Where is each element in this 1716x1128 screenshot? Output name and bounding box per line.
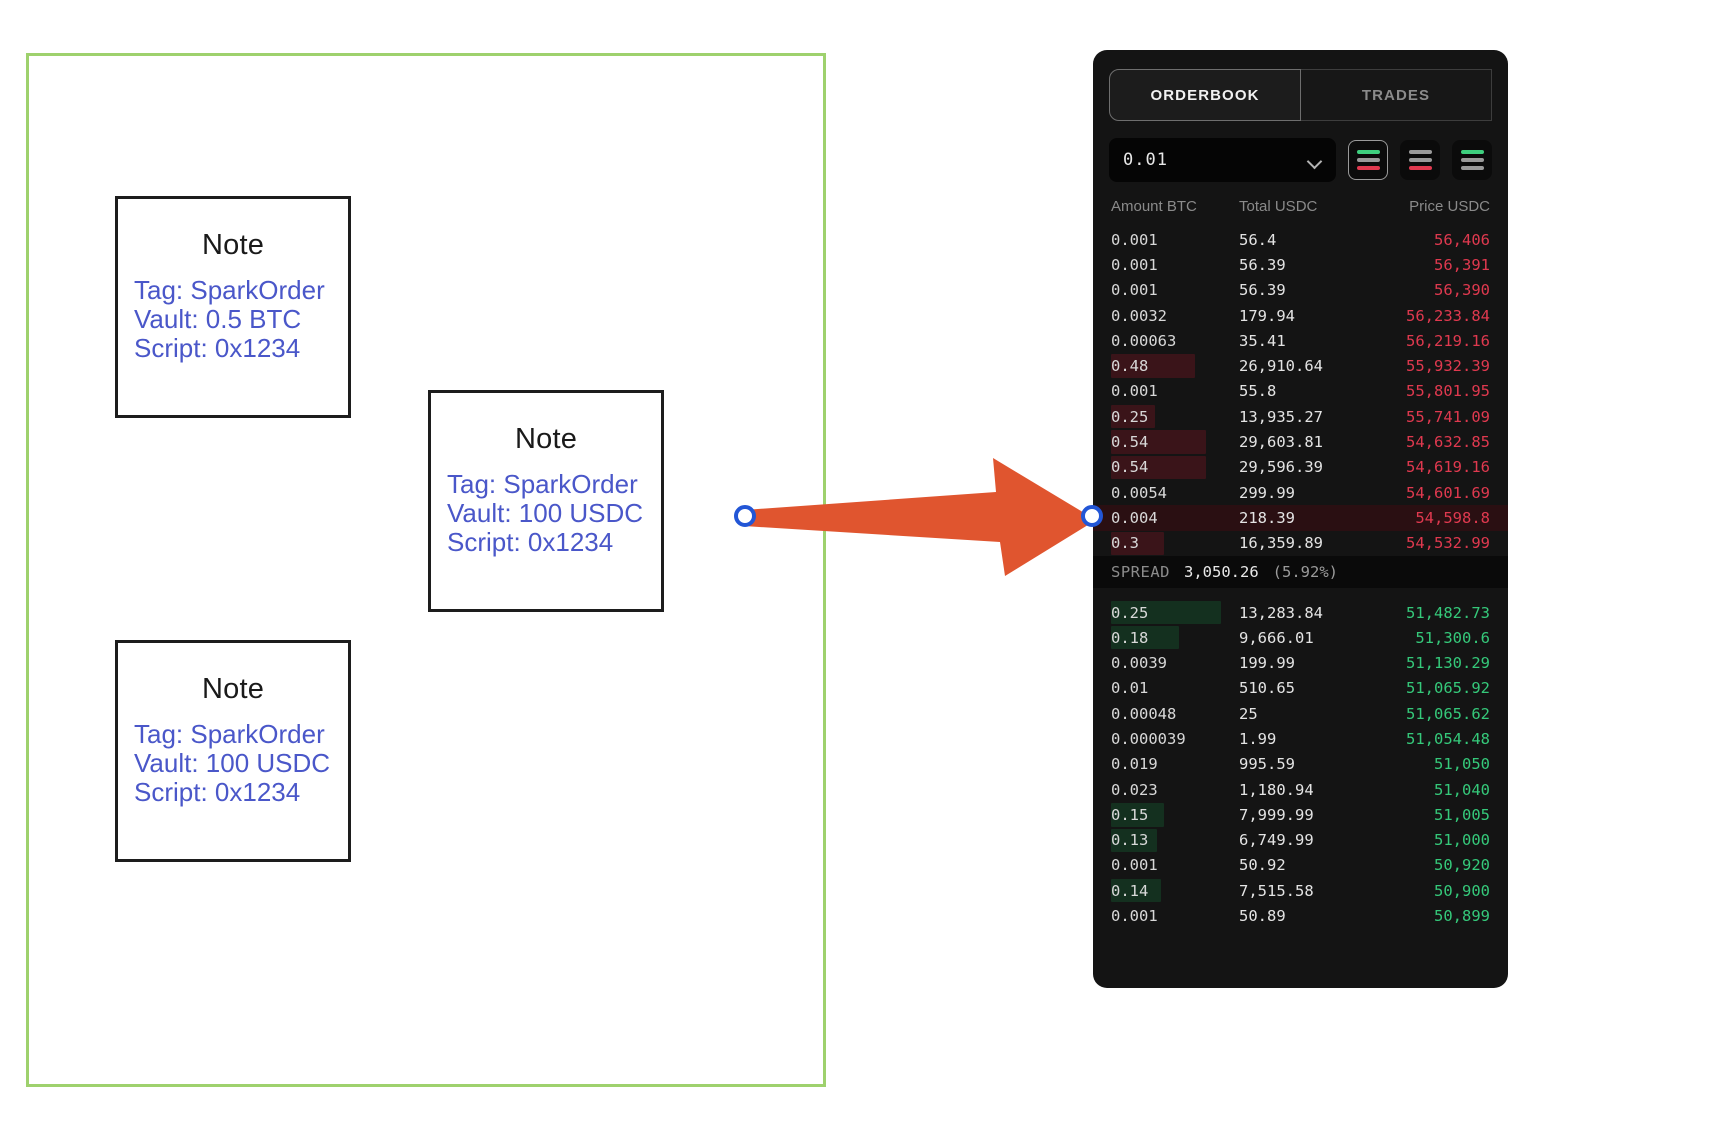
note-card[interactable]: Note Tag: SparkOrder Vault: 100 USDC Scr… — [428, 390, 664, 612]
cell-total: 7,515.58 — [1239, 882, 1370, 900]
diagram-canvas[interactable]: Note Tag: SparkOrder Vault: 0.5 BTC Scri… — [26, 53, 826, 1087]
note-title: Note — [202, 673, 264, 706]
view-bids-only-button[interactable] — [1452, 140, 1492, 180]
column-header-total: Total USDC — [1239, 198, 1409, 215]
cell-amount: 0.004 — [1111, 509, 1239, 527]
orderbook-row-ask[interactable]: 0.00156.456,406 — [1093, 227, 1508, 252]
orderbook-row-ask[interactable]: 0.004218.3954,598.8 — [1093, 505, 1508, 530]
cell-amount: 0.000039 — [1111, 730, 1239, 748]
cell-total: 6,749.99 — [1239, 831, 1370, 849]
note-vault-line: Vault: 0.5 BTC — [134, 305, 348, 334]
cell-price: 51,130.29 — [1370, 654, 1490, 672]
cell-total: 7,999.99 — [1239, 806, 1370, 824]
cell-total: 995.59 — [1239, 755, 1370, 773]
cell-price: 54,632.85 — [1370, 433, 1490, 451]
cell-price: 51,050 — [1370, 755, 1490, 773]
cell-amount: 0.25 — [1111, 604, 1239, 622]
orderbook-row-bid[interactable]: 0.2513,283.8451,482.73 — [1093, 600, 1508, 625]
tick-size-value: 0.01 — [1123, 150, 1168, 170]
orderbook-controls: 0.01 — [1109, 138, 1492, 182]
cell-total: 510.65 — [1239, 679, 1370, 697]
orderbook-row-bid[interactable]: 0.0039199.9951,130.29 — [1093, 650, 1508, 675]
orderbook-row-ask[interactable]: 0.00156.3956,390 — [1093, 278, 1508, 303]
spread-label: SPREAD — [1111, 563, 1170, 581]
orderbook-row-ask[interactable]: 0.0032179.9456,233.84 — [1093, 303, 1508, 328]
cell-total: 299.99 — [1239, 484, 1370, 502]
note-title: Note — [515, 423, 577, 456]
cell-price: 50,900 — [1370, 882, 1490, 900]
orderbook-row-bid[interactable]: 0.0000391.9951,054.48 — [1093, 726, 1508, 751]
cell-amount: 0.001 — [1111, 256, 1239, 274]
orderbook-row-ask[interactable]: 0.0006335.4156,219.16 — [1093, 328, 1508, 353]
column-header-price: Price USDC — [1409, 198, 1490, 215]
cell-amount: 0.3 — [1111, 534, 1239, 552]
cell-price: 51,065.92 — [1370, 679, 1490, 697]
orderbook-row-ask[interactable]: 0.0054299.9954,601.69 — [1093, 480, 1508, 505]
note-card[interactable]: Note Tag: SparkOrder Vault: 100 USDC Scr… — [115, 640, 351, 862]
cell-price: 51,300.6 — [1370, 629, 1490, 647]
cell-price: 51,054.48 — [1370, 730, 1490, 748]
cell-total: 26,910.64 — [1239, 357, 1370, 375]
spread-value: 3,050.26 — [1184, 563, 1259, 581]
orderbook-row-ask[interactable]: 0.5429,603.8154,632.85 — [1093, 429, 1508, 454]
orderbook-row-bid[interactable]: 0.000482551,065.62 — [1093, 701, 1508, 726]
connection-handle-source[interactable] — [734, 505, 756, 527]
orderbook-row-bid[interactable]: 0.147,515.5850,900 — [1093, 878, 1508, 903]
cell-amount: 0.023 — [1111, 781, 1239, 799]
ask-rows: 0.00156.456,4060.00156.3956,3910.00156.3… — [1093, 227, 1508, 556]
cell-total: 55.8 — [1239, 382, 1370, 400]
cell-price: 51,000 — [1370, 831, 1490, 849]
cell-total: 1.99 — [1239, 730, 1370, 748]
cell-price: 56,391 — [1370, 256, 1490, 274]
cell-total: 50.89 — [1239, 907, 1370, 925]
cell-amount: 0.0039 — [1111, 654, 1239, 672]
cell-total: 16,359.89 — [1239, 534, 1370, 552]
cell-amount: 0.001 — [1111, 856, 1239, 874]
bid-rows: 0.2513,283.8451,482.730.189,666.0151,300… — [1093, 600, 1508, 929]
cell-price: 54,532.99 — [1370, 534, 1490, 552]
cell-amount: 0.18 — [1111, 629, 1239, 647]
cell-amount: 0.019 — [1111, 755, 1239, 773]
spread-row: SPREAD 3,050.26 (5.92%) — [1093, 556, 1508, 588]
note-script-line: Script: 0x1234 — [134, 778, 348, 807]
cell-price: 55,932.39 — [1370, 357, 1490, 375]
orderbook-row-bid[interactable]: 0.136,749.9951,000 — [1093, 828, 1508, 853]
cell-total: 179.94 — [1239, 307, 1370, 325]
cell-price: 51,005 — [1370, 806, 1490, 824]
tick-size-select[interactable]: 0.01 — [1109, 138, 1336, 182]
cell-price: 50,920 — [1370, 856, 1490, 874]
note-fields: Tag: SparkOrder Vault: 100 USDC Script: … — [431, 470, 661, 557]
cell-total: 218.39 — [1239, 509, 1370, 527]
orderbook-column-headers: Amount BTC Total USDC Price USDC — [1111, 198, 1490, 215]
cell-total: 13,283.84 — [1239, 604, 1370, 622]
orderbook-row-bid[interactable]: 0.0231,180.9451,040 — [1093, 777, 1508, 802]
cell-price: 51,040 — [1370, 781, 1490, 799]
orderbook-panel: ORDERBOOK TRADES 0.01 Amount BTC Total U… — [1093, 50, 1508, 988]
cell-amount: 0.001 — [1111, 907, 1239, 925]
orderbook-row-ask[interactable]: 0.00155.855,801.95 — [1093, 379, 1508, 404]
cell-amount: 0.01 — [1111, 679, 1239, 697]
cell-total: 56.4 — [1239, 231, 1370, 249]
cell-total: 1,180.94 — [1239, 781, 1370, 799]
orderbook-row-bid[interactable]: 0.00150.8950,899 — [1093, 903, 1508, 928]
cell-total: 56.39 — [1239, 256, 1370, 274]
note-tag-line: Tag: SparkOrder — [447, 470, 661, 499]
cell-amount: 0.001 — [1111, 231, 1239, 249]
cell-amount: 0.00048 — [1111, 705, 1239, 723]
flow-arrow-icon — [744, 452, 1096, 580]
cell-total: 50.92 — [1239, 856, 1370, 874]
orderbook-row-ask[interactable]: 0.316,359.8954,532.99 — [1093, 531, 1508, 556]
note-script-line: Script: 0x1234 — [134, 334, 348, 363]
cell-amount: 0.00063 — [1111, 332, 1239, 350]
tab-trades[interactable]: TRADES — [1301, 69, 1492, 121]
view-both-sides-button[interactable] — [1348, 140, 1388, 180]
cell-price: 56,390 — [1370, 281, 1490, 299]
cell-price: 54,598.8 — [1370, 509, 1490, 527]
cell-amount: 0.0054 — [1111, 484, 1239, 502]
note-vault-line: Vault: 100 USDC — [134, 749, 348, 778]
cell-total: 29,596.39 — [1239, 458, 1370, 476]
note-vault-line: Vault: 100 USDC — [447, 499, 661, 528]
cell-amount: 0.54 — [1111, 458, 1239, 476]
note-tag-line: Tag: SparkOrder — [134, 276, 348, 305]
cell-amount: 0.001 — [1111, 382, 1239, 400]
tab-orderbook[interactable]: ORDERBOOK — [1109, 69, 1301, 121]
cell-total: 199.99 — [1239, 654, 1370, 672]
cell-amount: 0.48 — [1111, 357, 1239, 375]
cell-price: 54,601.69 — [1370, 484, 1490, 502]
view-asks-only-button[interactable] — [1400, 140, 1440, 180]
cell-amount: 0.25 — [1111, 408, 1239, 426]
note-script-line: Script: 0x1234 — [447, 528, 661, 557]
cell-amount: 0.001 — [1111, 281, 1239, 299]
cell-amount: 0.54 — [1111, 433, 1239, 451]
spread-percent: (5.92%) — [1273, 563, 1338, 581]
cell-price: 51,482.73 — [1370, 604, 1490, 622]
cell-price: 54,619.16 — [1370, 458, 1490, 476]
cell-price: 55,801.95 — [1370, 382, 1490, 400]
cell-total: 13,935.27 — [1239, 408, 1370, 426]
orderbook-row-bid[interactable]: 0.019995.5951,050 — [1093, 752, 1508, 777]
note-fields: Tag: SparkOrder Vault: 100 USDC Script: … — [118, 720, 348, 807]
cell-total: 56.39 — [1239, 281, 1370, 299]
cell-price: 50,899 — [1370, 907, 1490, 925]
orderbook-row-ask[interactable]: 0.5429,596.3954,619.16 — [1093, 455, 1508, 480]
cell-price: 56,233.84 — [1370, 307, 1490, 325]
note-card[interactable]: Note Tag: SparkOrder Vault: 0.5 BTC Scri… — [115, 196, 351, 418]
cell-price: 56,406 — [1370, 231, 1490, 249]
cell-total: 9,666.01 — [1239, 629, 1370, 647]
orderbook-row-ask[interactable]: 0.00156.3956,391 — [1093, 252, 1508, 277]
cell-price: 55,741.09 — [1370, 408, 1490, 426]
column-header-amount: Amount BTC — [1111, 198, 1239, 215]
cell-total: 35.41 — [1239, 332, 1370, 350]
cell-amount: 0.15 — [1111, 806, 1239, 824]
orderbook-tabs: ORDERBOOK TRADES — [1109, 69, 1492, 121]
note-tag-line: Tag: SparkOrder — [134, 720, 348, 749]
cell-amount: 0.13 — [1111, 831, 1239, 849]
orderbook-row-ask[interactable]: 0.4826,910.6455,932.39 — [1093, 353, 1508, 378]
orderbook-row-bid[interactable]: 0.01510.6551,065.92 — [1093, 676, 1508, 701]
cell-price: 56,219.16 — [1370, 332, 1490, 350]
orderbook-row-bid[interactable]: 0.00150.9250,920 — [1093, 853, 1508, 878]
orderbook-row-bid[interactable]: 0.157,999.9951,005 — [1093, 802, 1508, 827]
note-title: Note — [202, 229, 264, 262]
cell-total: 29,603.81 — [1239, 433, 1370, 451]
cell-amount: 0.14 — [1111, 882, 1239, 900]
cell-amount: 0.0032 — [1111, 307, 1239, 325]
cell-price: 51,065.62 — [1370, 705, 1490, 723]
note-fields: Tag: SparkOrder Vault: 0.5 BTC Script: 0… — [118, 276, 348, 363]
cell-total: 25 — [1239, 705, 1370, 723]
orderbook-row-bid[interactable]: 0.189,666.0151,300.6 — [1093, 625, 1508, 650]
connection-handle-target[interactable] — [1081, 505, 1103, 527]
chevron-down-icon — [1308, 156, 1322, 164]
orderbook-row-ask[interactable]: 0.2513,935.2755,741.09 — [1093, 404, 1508, 429]
